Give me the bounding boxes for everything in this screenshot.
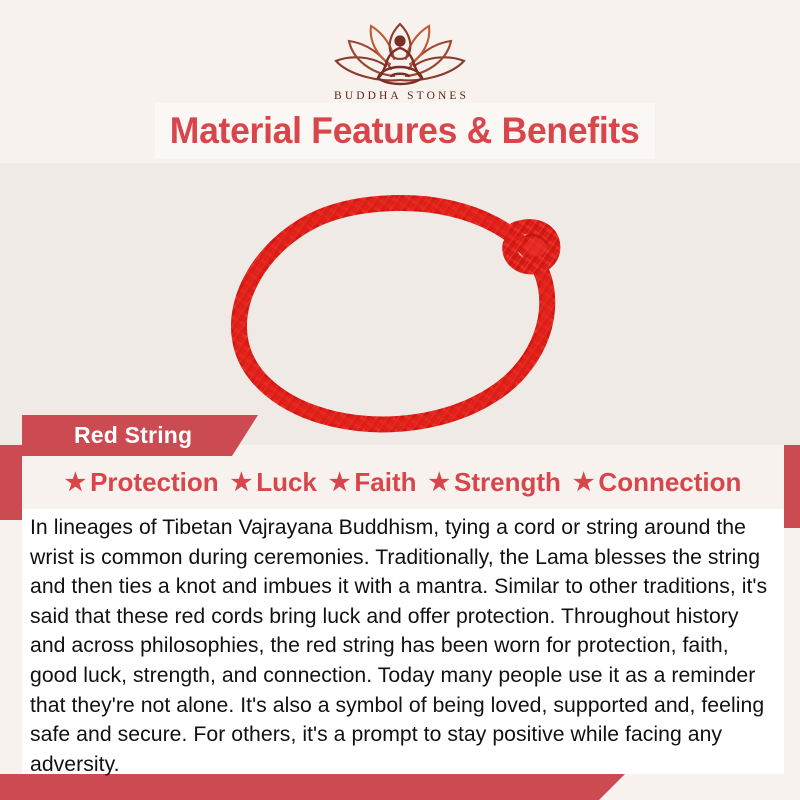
feature-label: Faith	[354, 467, 416, 498]
feature-label: Luck	[256, 467, 317, 498]
feature-label: Protection	[90, 467, 219, 498]
feature-item-luck: ★ Luck	[225, 467, 323, 498]
star-icon: ★	[429, 471, 451, 495]
brand-logo: BUDDHA STONES	[0, 14, 800, 102]
description-block: In lineages of Tibetan Vajrayana Buddhis…	[22, 509, 784, 774]
star-icon: ★	[65, 471, 87, 495]
lotus-meditating-figure-icon	[320, 14, 480, 88]
star-icon: ★	[231, 471, 253, 495]
section-ribbon-label: Red String	[74, 422, 192, 449]
star-icon: ★	[329, 471, 351, 495]
star-icon: ★	[573, 471, 595, 495]
feature-item-faith: ★ Faith	[323, 467, 423, 498]
product-photo	[0, 163, 800, 445]
page-title-plate: Material Features & Benefits	[155, 103, 655, 159]
product-info-poster: BUDDHA STONES Material Features & Benefi…	[0, 0, 800, 800]
bracelet-knot	[510, 227, 553, 267]
red-string-bracelet-illustration	[0, 163, 800, 445]
page-title: Material Features & Benefits	[170, 110, 640, 152]
feature-item-connection: ★ Connection	[567, 467, 748, 498]
feature-item-strength: ★ Strength	[423, 467, 567, 498]
feature-label: Connection	[598, 467, 741, 498]
feature-item-protection: ★ Protection	[59, 467, 225, 498]
brand-name: BUDDHA STONES	[0, 90, 800, 102]
feature-label: Strength	[454, 467, 561, 498]
description-text: In lineages of Tibetan Vajrayana Buddhis…	[30, 513, 768, 779]
feature-list: ★ Protection ★ Luck ★ Faith ★ Strength ★…	[22, 456, 784, 509]
section-ribbon: Red String	[22, 415, 258, 456]
